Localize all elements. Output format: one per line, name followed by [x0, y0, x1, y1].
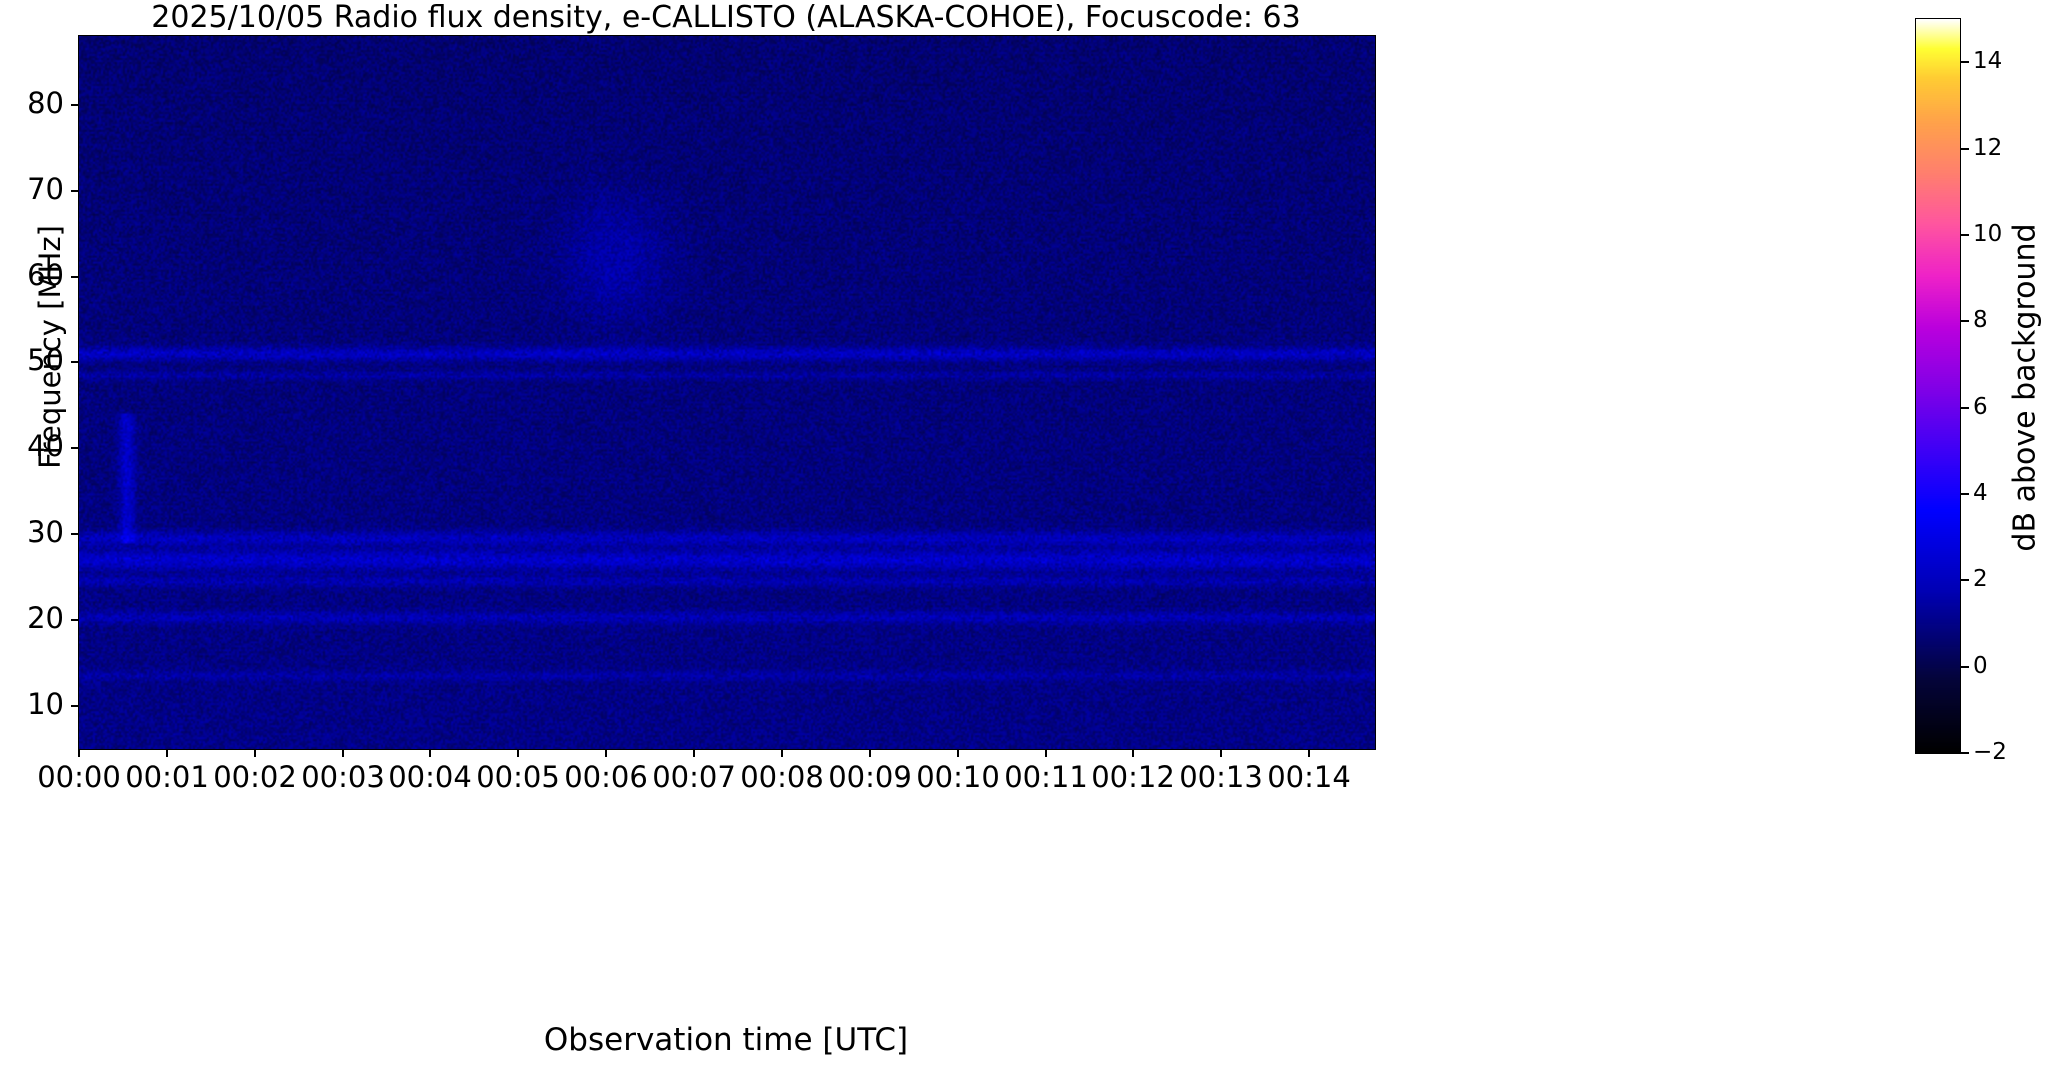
- x-tick-label: 00:00: [37, 760, 121, 794]
- x-tick-label: 00:05: [476, 760, 560, 794]
- x-tick-mark: [517, 750, 519, 757]
- x-tick-label: 00:06: [564, 760, 648, 794]
- x-tick-label: 00:03: [301, 760, 385, 794]
- colorbar-label: dB above background: [2008, 138, 2043, 638]
- x-tick-mark: [1220, 750, 1222, 757]
- colorbar[interactable]: [1915, 18, 1961, 754]
- colorbar-tick-label: −2: [1973, 739, 2007, 765]
- colorbar-tick-mark: [1961, 493, 1969, 495]
- x-tick-mark: [781, 750, 783, 757]
- colorbar-tick-label: 6: [1973, 394, 1988, 420]
- colorbar-tick-label: 0: [1973, 653, 1988, 679]
- colorbar-tick-mark: [1961, 320, 1969, 322]
- colorbar-tick-label: 8: [1973, 307, 1988, 333]
- y-tick-mark: [71, 276, 78, 278]
- x-axis-label: Observation time [UTC]: [78, 1022, 1374, 1058]
- x-tick-label: 00:13: [1179, 760, 1263, 794]
- x-tick-label: 00:10: [916, 760, 1000, 794]
- y-tick-mark: [71, 533, 78, 535]
- colorbar-tick-label: 2: [1973, 566, 1988, 592]
- colorbar-tick-label: 12: [1973, 135, 2002, 161]
- x-tick-mark: [1045, 750, 1047, 757]
- x-tick-mark: [957, 750, 959, 757]
- x-tick-mark: [1308, 750, 1310, 757]
- y-tick-mark: [71, 447, 78, 449]
- colorbar-tick-mark: [1961, 234, 1969, 236]
- x-tick-label: 00:09: [828, 760, 912, 794]
- x-tick-label: 00:02: [213, 760, 297, 794]
- colorbar-tick-mark: [1961, 666, 1969, 668]
- spectrogram-image: [79, 36, 1375, 749]
- figure-canvas: 2025/10/05 Radio flux density, e-CALLIST…: [0, 0, 2047, 1067]
- colorbar-tick-mark: [1961, 148, 1969, 150]
- colorbar-tick-label: 4: [1973, 480, 1988, 506]
- y-tick-mark: [71, 190, 78, 192]
- page-title: 2025/10/05 Radio flux density, e-CALLIST…: [78, 2, 1374, 34]
- colorbar-tick-label: 14: [1973, 48, 2002, 74]
- x-tick-mark: [429, 750, 431, 757]
- x-tick-mark: [605, 750, 607, 757]
- colorbar-tick-mark: [1961, 61, 1969, 63]
- colorbar-tick-mark: [1961, 579, 1969, 581]
- x-tick-mark: [342, 750, 344, 757]
- x-tick-mark: [78, 750, 80, 757]
- x-tick-mark: [869, 750, 871, 757]
- x-tick-label: 00:07: [652, 760, 736, 794]
- x-tick-label: 00:12: [1091, 760, 1175, 794]
- colorbar-tick-mark: [1961, 752, 1969, 754]
- colorbar-gradient: [1916, 19, 1960, 753]
- x-tick-label: 00:01: [125, 760, 209, 794]
- y-tick-mark: [71, 104, 78, 106]
- spectrogram-axes[interactable]: [78, 35, 1376, 750]
- y-tick-mark: [71, 705, 78, 707]
- x-tick-label: 00:14: [1267, 760, 1351, 794]
- x-tick-mark: [693, 750, 695, 757]
- x-tick-mark: [1132, 750, 1134, 757]
- colorbar-tick-mark: [1961, 407, 1969, 409]
- x-tick-label: 00:11: [1004, 760, 1088, 794]
- y-tick-mark: [71, 619, 78, 621]
- y-tick-mark: [71, 361, 78, 363]
- colorbar-tick-label: 10: [1973, 221, 2002, 247]
- x-tick-label: 00:04: [388, 760, 472, 794]
- x-tick-label: 00:08: [740, 760, 824, 794]
- x-tick-mark: [166, 750, 168, 757]
- x-tick-mark: [254, 750, 256, 757]
- y-axis-label: Frequency [MHz]: [33, 0, 67, 697]
